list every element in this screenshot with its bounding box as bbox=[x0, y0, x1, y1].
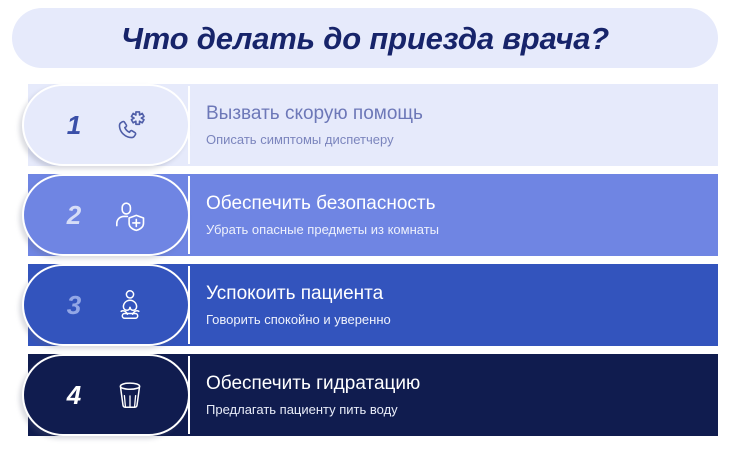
step-text: Обеспечить безопасность Убрать опасные п… bbox=[206, 174, 439, 256]
step-title: Обеспечить гидратацию bbox=[206, 374, 420, 394]
step-capsule[interactable]: 2 bbox=[22, 174, 190, 256]
step-divider bbox=[188, 176, 190, 254]
water-glass-icon bbox=[111, 376, 149, 414]
step-subtitle: Предлагать пациенту пить воду bbox=[206, 403, 420, 417]
step-subtitle: Описать симптомы диспетчеру bbox=[206, 133, 423, 147]
steps-list: 1 Вызвать скорую помощь Описать симптомы… bbox=[0, 84, 730, 444]
step-number: 1 bbox=[63, 112, 85, 138]
phone-medical-cross-icon bbox=[111, 106, 149, 144]
step-divider bbox=[188, 266, 190, 344]
step-number: 4 bbox=[63, 382, 85, 408]
step-row[interactable]: 2 Обеспечить безопасность Убрать опасные… bbox=[0, 174, 730, 256]
step-subtitle: Говорить спокойно и уверенно bbox=[206, 313, 391, 327]
header-banner: Что делать до приезда врача? bbox=[12, 8, 718, 68]
step-capsule[interactable]: 1 bbox=[22, 84, 190, 166]
step-divider bbox=[188, 356, 190, 434]
step-row[interactable]: 1 Вызвать скорую помощь Описать симптомы… bbox=[0, 84, 730, 166]
step-number: 2 bbox=[63, 202, 85, 228]
step-title: Обеспечить безопасность bbox=[206, 194, 439, 214]
step-text: Вызвать скорую помощь Описать симптомы д… bbox=[206, 84, 423, 166]
step-row[interactable]: 4 Обеспечить гидратацию Предлагать пацие… bbox=[0, 354, 730, 436]
step-text: Успокоить пациента Говорить спокойно и у… bbox=[206, 264, 391, 346]
step-row[interactable]: 3 Успокоить пациента Говорить спокойно и… bbox=[0, 264, 730, 346]
step-capsule[interactable]: 4 bbox=[22, 354, 190, 436]
step-number: 3 bbox=[63, 292, 85, 318]
meditation-lotus-icon bbox=[111, 286, 149, 324]
step-divider bbox=[188, 86, 190, 164]
step-capsule[interactable]: 3 bbox=[22, 264, 190, 346]
step-title: Вызвать скорую помощь bbox=[206, 104, 423, 124]
step-text: Обеспечить гидратацию Предлагать пациент… bbox=[206, 354, 420, 436]
page-title: Что делать до приезда врача? bbox=[121, 23, 609, 54]
step-subtitle: Убрать опасные предметы из комнаты bbox=[206, 223, 439, 237]
step-title: Успокоить пациента bbox=[206, 284, 391, 304]
person-shield-plus-icon bbox=[111, 196, 149, 234]
